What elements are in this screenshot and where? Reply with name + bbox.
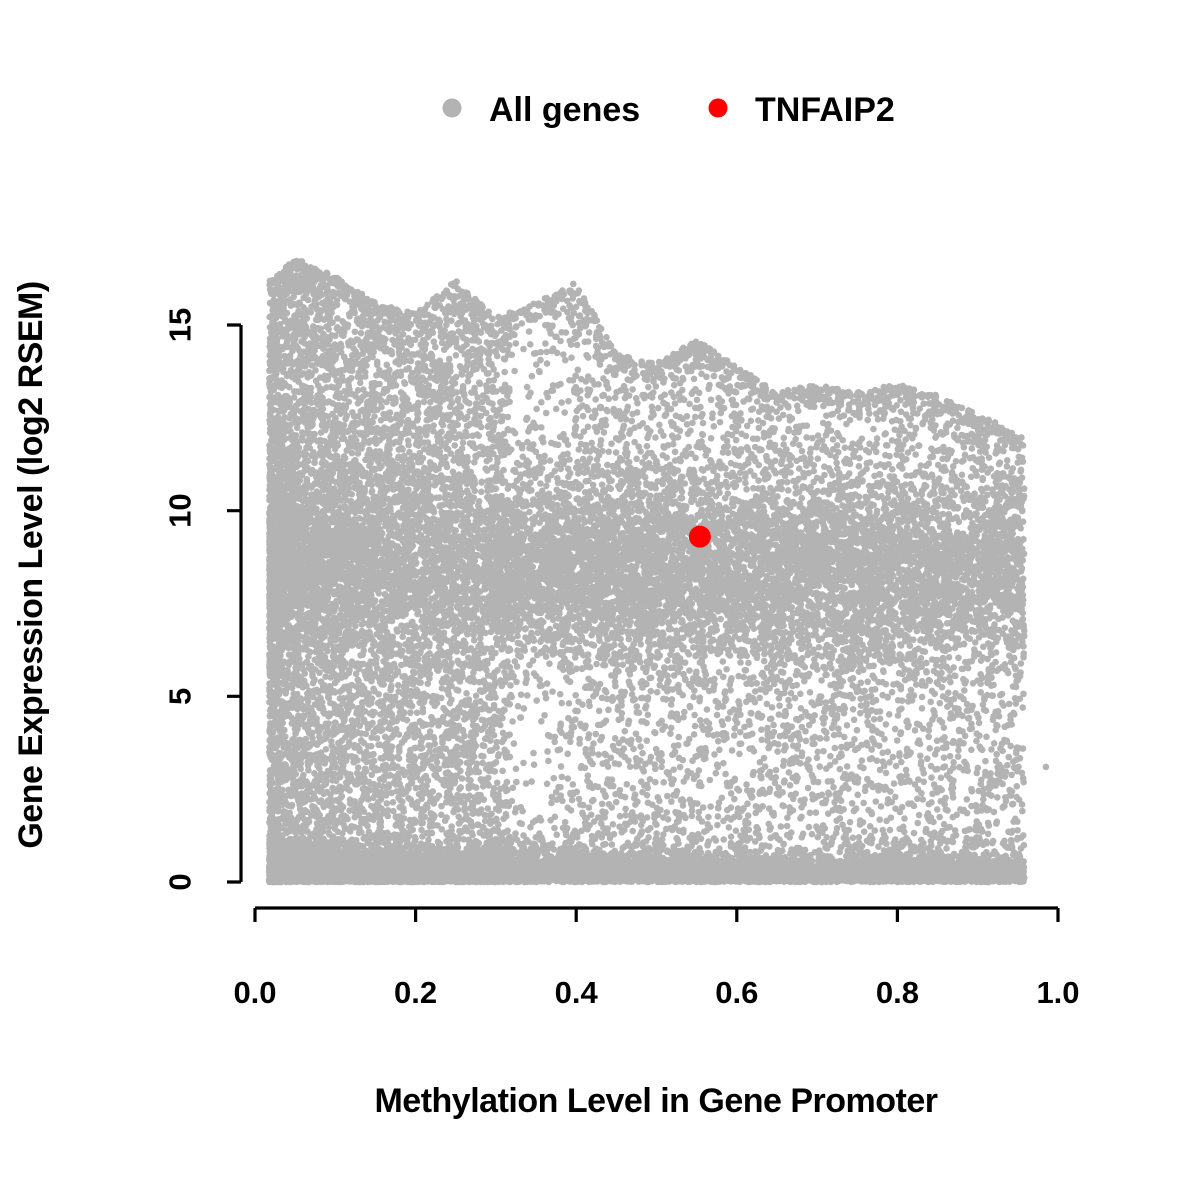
data-point: [565, 398, 572, 405]
data-point: [726, 824, 733, 831]
data-point: [599, 808, 606, 815]
data-point: [798, 646, 805, 653]
data-point: [778, 823, 785, 830]
data-point: [375, 691, 382, 698]
data-point: [518, 691, 525, 698]
data-point: [809, 435, 816, 442]
data-point: [684, 413, 691, 420]
data-point: [830, 784, 837, 791]
data-point: [820, 748, 827, 755]
data-point: [633, 456, 640, 463]
data-point: [667, 730, 674, 737]
data-point: [586, 804, 593, 811]
data-point: [814, 755, 821, 762]
data-point: [707, 803, 714, 810]
data-point: [516, 462, 523, 469]
data-point: [870, 426, 877, 433]
data-point: [499, 417, 506, 424]
data-point: [737, 729, 744, 736]
data-point: [511, 368, 518, 375]
data-point: [859, 757, 866, 764]
data-point: [595, 751, 602, 758]
data-point: [1019, 808, 1026, 815]
data-point: [722, 771, 729, 778]
data-point: [912, 727, 919, 734]
data-point: [531, 350, 538, 357]
scatter-plot: 0.00.20.40.60.81.0 051015 Methylation Le…: [0, 0, 1200, 1200]
data-point: [530, 750, 537, 757]
data-point: [547, 457, 554, 464]
data-point: [775, 741, 782, 748]
data-point: [844, 763, 851, 770]
chart-canvas: 0.00.20.40.60.81.0 051015 Methylation Le…: [0, 0, 1200, 1200]
data-point: [607, 486, 614, 493]
data-point: [911, 830, 918, 837]
data-point: [936, 814, 943, 821]
data-point: [807, 445, 814, 452]
data-point: [551, 739, 558, 746]
data-point: [559, 774, 566, 781]
data-point: [537, 357, 544, 364]
data-point: [993, 751, 1000, 758]
data-point: [729, 747, 736, 754]
data-point: [761, 755, 768, 762]
data-point: [886, 711, 893, 718]
data-point: [675, 734, 682, 741]
data-point: [538, 718, 545, 725]
data-point: [938, 774, 945, 781]
data-point: [352, 623, 359, 630]
data-point: [692, 414, 699, 421]
data-point: [961, 687, 968, 694]
data-point: [896, 750, 903, 757]
data-point: [946, 654, 953, 661]
data-point: [832, 745, 839, 752]
data-point: [785, 697, 792, 704]
data-point: [575, 366, 582, 373]
data-point: [836, 849, 843, 856]
data-point: [526, 328, 533, 335]
data-point: [521, 705, 528, 712]
data-point: [726, 681, 733, 688]
data-point: [543, 410, 550, 417]
data-point: [743, 781, 750, 788]
data-point: [634, 409, 641, 416]
data-point: [529, 373, 536, 380]
data-point: [919, 694, 926, 701]
data-point: [901, 815, 908, 822]
data-point: [823, 729, 830, 736]
data-point: [743, 486, 750, 493]
data-point: [688, 637, 695, 644]
data-point: [630, 785, 637, 792]
data-point: [544, 360, 551, 367]
data-point: [570, 781, 577, 788]
data-point: [537, 349, 544, 356]
data-point: [934, 806, 941, 813]
data-point: [558, 399, 565, 406]
data-point: [557, 746, 564, 753]
data-point: [610, 821, 617, 828]
data-point: [569, 797, 576, 804]
data-point: [844, 722, 851, 729]
data-point: [861, 828, 868, 835]
data-point: [967, 726, 974, 733]
